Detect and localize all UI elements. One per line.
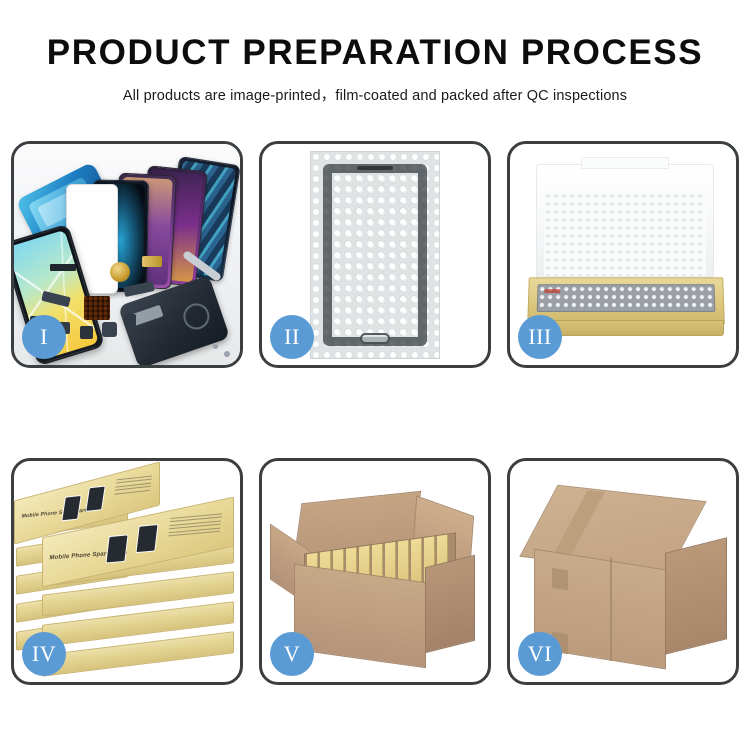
step-badge-5: V [270, 632, 314, 676]
coil-part [110, 262, 130, 282]
step-badge-3: III [518, 315, 562, 359]
carton-handle-tab-top [552, 568, 568, 591]
product-preparation-infographic: PRODUCT PREPARATION PROCESS All products… [0, 0, 750, 750]
box-product-thumbnail-1 [61, 495, 82, 522]
small-part-3 [80, 326, 93, 339]
page-title: PRODUCT PREPARATION PROCESS [0, 34, 750, 73]
home-button [360, 333, 390, 344]
screw-part-2 [213, 344, 218, 349]
gold-contact-part [142, 256, 162, 267]
step-badge-4: IV [22, 632, 66, 676]
process-step-panel-5: V [259, 458, 491, 685]
process-step-panel-2: II [259, 141, 491, 368]
page-header: PRODUCT PREPARATION PROCESS All products… [0, 0, 750, 105]
bubble-wrap-sheet [311, 152, 439, 358]
kraft-box-tray [527, 277, 725, 325]
page-subtitle: All products are image-printed，film-coat… [0, 84, 750, 105]
speaker-bar-part [50, 264, 76, 271]
step-badge-6: VI [518, 632, 562, 676]
carton-edge-seam [610, 557, 612, 661]
carton-side-face [425, 555, 475, 653]
wrapped-screen-assembly [323, 164, 427, 346]
sealed-carton-right-face [665, 537, 727, 654]
process-step-panel-6: VI [507, 458, 739, 685]
process-step-panel-1: I [11, 141, 243, 368]
small-part-5 [124, 314, 136, 326]
step-badge-2: II [270, 315, 314, 359]
box-product-thumbnail-2 [85, 485, 106, 512]
box-spec-lines-back [114, 475, 152, 496]
step-badge-1: I [22, 315, 66, 359]
small-part-4 [102, 322, 117, 337]
box-product-thumbnail-3 [105, 534, 128, 563]
foam-insert [544, 192, 706, 276]
screw-part-1 [224, 351, 230, 357]
process-step-grid: I II I [11, 141, 739, 685]
wrapped-screen-in-box [537, 284, 716, 312]
process-step-panel-4: Mobile Phone Spare Parts Mobile Phone Sp… [11, 458, 243, 685]
process-step-panel-3: III [507, 141, 739, 368]
box-spec-lines-front [168, 513, 222, 538]
connector-grid-part [84, 296, 110, 320]
box-product-thumbnail-4 [135, 524, 158, 553]
earpiece-slot [357, 166, 393, 170]
